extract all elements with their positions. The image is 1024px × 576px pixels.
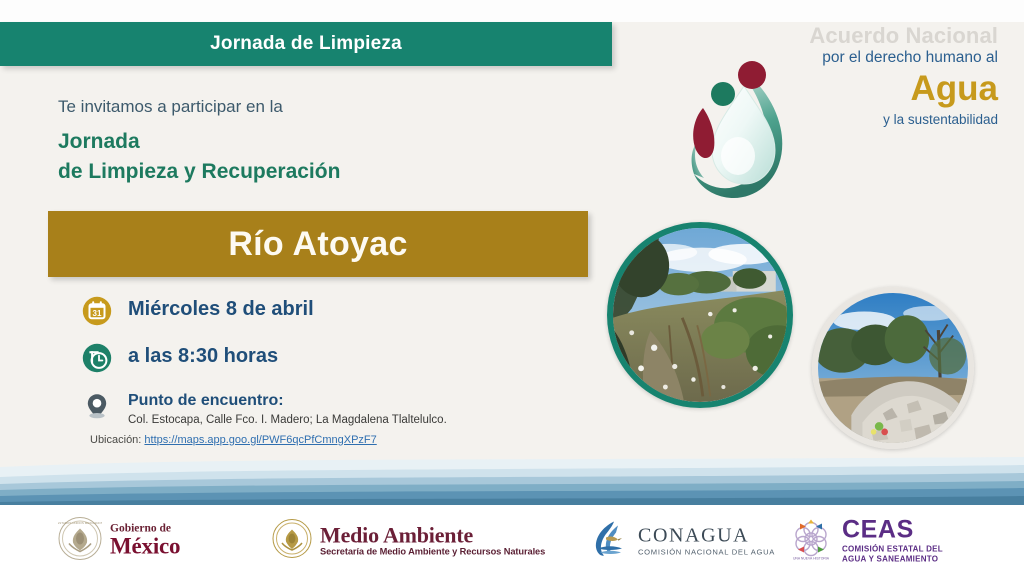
logo-medio-ambiente: Medio Ambiente Secretaría de Medio Ambie… xyxy=(272,518,545,563)
acuerdo-line-1: Acuerdo Nacional xyxy=(752,24,998,47)
location-pin-icon xyxy=(82,390,112,420)
gobierno-line-2: México xyxy=(110,534,180,558)
event-details: 31 Miércoles 8 de abril a las 8:30 horas xyxy=(82,296,552,446)
footer-logo-bar: ESTADOS UNIDOS MEXICANOS Gobierno de Méx… xyxy=(0,505,1024,576)
medio-ambiente-line-2: Secretaría de Medio Ambiente y Recursos … xyxy=(320,548,545,558)
invitation-text-block: Te invitamos a participar en la Jornada … xyxy=(58,96,578,187)
conagua-wave-eagle-icon xyxy=(588,517,630,564)
water-drop-icon xyxy=(676,52,796,212)
ceas-line-1: CEAS xyxy=(842,516,943,542)
ceas-flower-icon: UNA NUEVA HISTORIA xyxy=(788,515,834,566)
calendar-day-number: 31 xyxy=(93,309,102,318)
river-name-banner: Río Atoyac xyxy=(48,211,588,277)
location-label: Ubicación: xyxy=(90,434,141,446)
detail-row-time: a las 8:30 horas xyxy=(82,343,552,373)
river-name-label: Río Atoyac xyxy=(228,225,407,264)
invitation-headline-2: de Limpieza y Recuperación xyxy=(58,157,578,187)
photo-rubble xyxy=(812,287,974,449)
calendar-icon: 31 xyxy=(82,296,112,326)
detail-row-place: Punto de encuentro: Col. Estocapa, Calle… xyxy=(82,390,552,428)
title-banner-label: Jornada de Limpieza xyxy=(210,33,402,55)
wave-graphic xyxy=(0,455,1024,505)
event-time: a las 8:30 horas xyxy=(128,345,278,367)
photo-riverbank-image xyxy=(613,228,787,402)
poster-canvas: Jornada de Limpieza Acuerdo Nacional por… xyxy=(0,0,1024,576)
water-drop-logo xyxy=(676,52,796,212)
logo-ceas: UNA NUEVA HISTORIA CEAS COMISIÓN ESTATAL… xyxy=(788,515,943,566)
event-date: Miércoles 8 de abril xyxy=(128,298,314,320)
location-url-link[interactable]: https://maps.app.goo.gl/PWF6qcPfCmngXPzF… xyxy=(144,434,376,446)
logo-conagua: CONAGUA COMISIÓN NACIONAL DEL AGUA xyxy=(588,517,775,564)
teal-dot xyxy=(711,82,735,106)
conagua-line-1: CONAGUA xyxy=(638,525,775,546)
ceas-line-3: AGUA Y SANEAMIENTO xyxy=(842,555,943,565)
mexican-eagle-seal-icon: ESTADOS UNIDOS MEXICANOS xyxy=(58,516,102,565)
invitation-headline-1: Jornada xyxy=(58,127,578,157)
invitation-intro: Te invitamos a participar en la xyxy=(58,96,578,118)
top-white-strip xyxy=(0,0,1024,22)
location-url-line: Ubicación: https://maps.app.goo.gl/PWF6q… xyxy=(90,434,552,446)
conagua-line-2: COMISIÓN NACIONAL DEL AGUA xyxy=(638,548,775,556)
clock-icon xyxy=(82,343,112,373)
detail-row-date: 31 Miércoles 8 de abril xyxy=(82,296,552,326)
place-label: Punto de encuentro: xyxy=(128,392,284,409)
maroon-dot xyxy=(738,61,766,89)
medio-ambiente-line-1: Medio Ambiente xyxy=(320,524,545,547)
ceas-tagline: UNA NUEVA HISTORIA xyxy=(793,556,830,560)
photo-riverbank xyxy=(607,222,793,408)
semarnat-eagle-seal-icon xyxy=(272,518,312,563)
water-wave-divider xyxy=(0,455,1024,505)
ceas-line-2: COMISIÓN ESTATAL DEL xyxy=(842,545,943,555)
title-banner: Jornada de Limpieza xyxy=(0,22,612,66)
logo-gobierno-de-mexico: ESTADOS UNIDOS MEXICANOS Gobierno de Méx… xyxy=(58,516,180,565)
photo-rubble-image xyxy=(818,293,968,443)
svg-text:ESTADOS UNIDOS MEXICANOS: ESTADOS UNIDOS MEXICANOS xyxy=(58,520,102,524)
place-address: Col. Estocapa, Calle Fco. I. Madero; La … xyxy=(128,413,447,427)
